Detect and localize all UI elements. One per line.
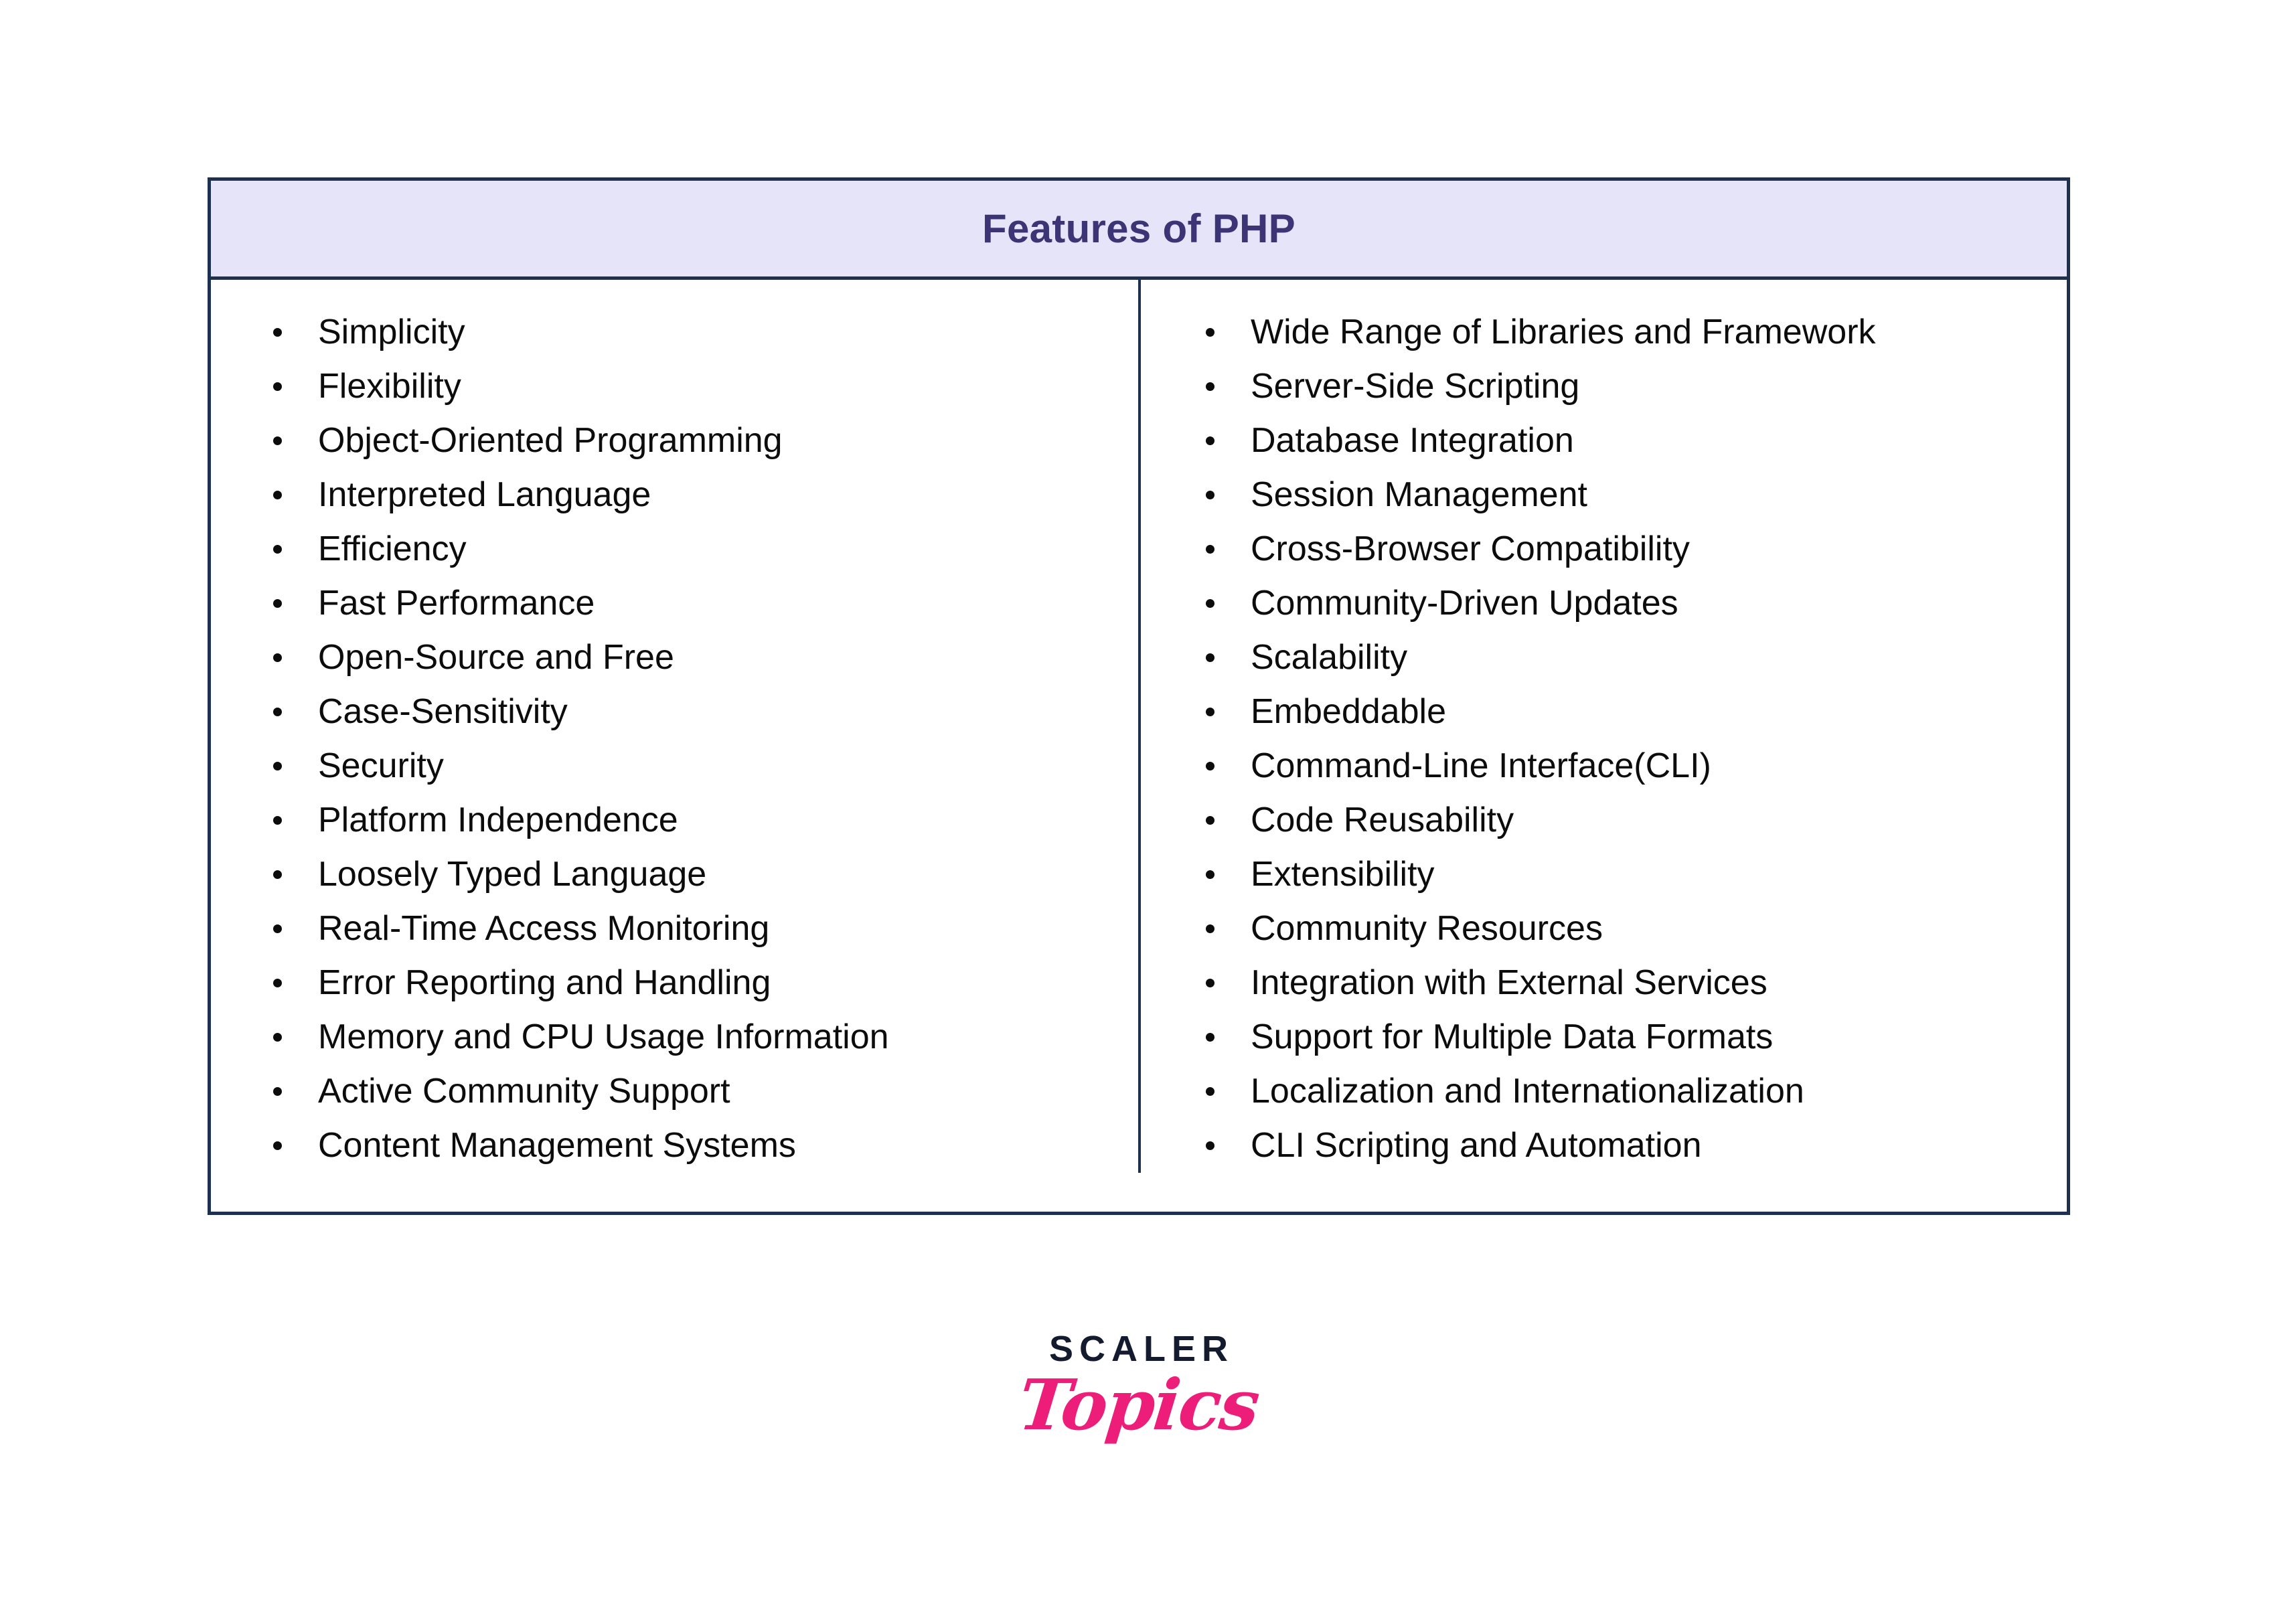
bullet-icon — [1206, 762, 1214, 770]
list-item-label: Database Integration — [1251, 421, 1574, 460]
list-item: Error Reporting and Handling — [271, 956, 1138, 1010]
right-feature-list: Wide Range of Libraries and Framework Se… — [1204, 305, 2063, 1173]
list-item-label: Memory and CPU Usage Information — [318, 1018, 889, 1056]
list-item: Active Community Support — [271, 1064, 1138, 1119]
scaler-topics-logo: SCALER Topics — [0, 1331, 2277, 1441]
list-item-label: Open-Source and Free — [318, 638, 674, 677]
list-item: Session Management — [1204, 468, 2063, 522]
bullet-icon — [1206, 653, 1214, 662]
list-item-label: Session Management — [1251, 475, 1587, 514]
list-item: Flexibility — [271, 359, 1138, 414]
bullet-icon — [273, 708, 282, 716]
list-item-label: Error Reporting and Handling — [318, 963, 771, 1002]
table-body: Simplicity Flexibility Object-Oriented P… — [211, 280, 2067, 1208]
bullet-icon — [1206, 870, 1214, 879]
list-item: Command-Line Interface(CLI) — [1204, 739, 2063, 793]
list-item-label: Efficiency — [318, 530, 467, 568]
list-item-label: Case-Sensitivity — [318, 692, 568, 731]
table-header: Features of PHP — [211, 181, 2067, 280]
right-column: Wide Range of Libraries and Framework Se… — [1138, 280, 2063, 1173]
list-item: Security — [271, 739, 1138, 793]
list-item: Object-Oriented Programming — [271, 414, 1138, 468]
bullet-icon — [1206, 979, 1214, 987]
list-item: Fast Performance — [271, 576, 1138, 631]
bullet-icon — [1206, 491, 1214, 499]
bullet-icon — [1206, 436, 1214, 445]
list-item: Loosely Typed Language — [271, 847, 1138, 902]
bullet-icon — [273, 1033, 282, 1042]
list-item: Community-Driven Updates — [1204, 576, 2063, 631]
list-item-label: Code Reusability — [1251, 801, 1514, 839]
list-item-label: Flexibility — [318, 367, 461, 406]
list-item: Community Resources — [1204, 902, 2063, 956]
list-item: Cross-Browser Compatibility — [1204, 522, 2063, 576]
list-item-label: Cross-Browser Compatibility — [1251, 530, 1690, 568]
bullet-icon — [1206, 816, 1214, 825]
bullet-icon — [273, 491, 282, 499]
bullet-icon — [273, 328, 282, 337]
list-item: Efficiency — [271, 522, 1138, 576]
bullet-icon — [1206, 328, 1214, 337]
bullet-icon — [1206, 545, 1214, 554]
features-table: Features of PHP Simplicity Flexibility O… — [208, 177, 2070, 1215]
bullet-icon — [1206, 1087, 1214, 1096]
bullet-icon — [273, 545, 282, 554]
list-item-label: Simplicity — [318, 313, 465, 351]
list-item: Extensibility — [1204, 847, 2063, 902]
list-item: Content Management Systems — [271, 1119, 1138, 1173]
bullet-icon — [273, 1087, 282, 1096]
list-item: Real-Time Access Monitoring — [271, 902, 1138, 956]
bullet-icon — [1206, 382, 1214, 391]
bullet-icon — [1206, 924, 1214, 933]
list-item-label: Command-Line Interface(CLI) — [1251, 746, 1711, 785]
left-feature-list: Simplicity Flexibility Object-Oriented P… — [271, 305, 1138, 1173]
list-item-label: Integration with External Services — [1251, 963, 1768, 1002]
bullet-icon — [273, 1141, 282, 1150]
list-item-label: Security — [318, 746, 444, 785]
list-item-label: Object-Oriented Programming — [318, 421, 783, 460]
list-item-label: Interpreted Language — [318, 475, 651, 514]
list-item-label: Localization and Internationalization — [1251, 1072, 1804, 1111]
page-canvas: Features of PHP Simplicity Flexibility O… — [0, 0, 2277, 1624]
list-item-label: Support for Multiple Data Formats — [1251, 1018, 1773, 1056]
list-item: Server-Side Scripting — [1204, 359, 2063, 414]
list-item: Memory and CPU Usage Information — [271, 1010, 1138, 1064]
page-title: Features of PHP — [982, 209, 1295, 249]
left-column: Simplicity Flexibility Object-Oriented P… — [211, 280, 1138, 1173]
bullet-icon — [273, 870, 282, 879]
list-item: Embeddable — [1204, 685, 2063, 739]
list-item: Integration with External Services — [1204, 956, 2063, 1010]
list-item-label: Server-Side Scripting — [1251, 367, 1579, 406]
list-item-label: Community Resources — [1251, 909, 1603, 948]
list-item: Support for Multiple Data Formats — [1204, 1010, 2063, 1064]
list-item-label: Real-Time Access Monitoring — [318, 909, 769, 948]
bullet-icon — [273, 924, 282, 933]
bullet-icon — [273, 816, 282, 825]
bullet-icon — [273, 436, 282, 445]
list-item-label: Community-Driven Updates — [1251, 584, 1678, 623]
list-item: Case-Sensitivity — [271, 685, 1138, 739]
list-item-label: Fast Performance — [318, 584, 595, 623]
list-item-label: Embeddable — [1251, 692, 1446, 731]
bullet-icon — [1206, 708, 1214, 716]
list-item-label: Loosely Typed Language — [318, 855, 706, 894]
list-item-label: Scalability — [1251, 638, 1407, 677]
bullet-icon — [1206, 1141, 1214, 1150]
list-item-label: Active Community Support — [318, 1072, 730, 1111]
list-item-label: Platform Independence — [318, 801, 678, 839]
list-item: CLI Scripting and Automation — [1204, 1119, 2063, 1173]
list-item-label: Extensibility — [1251, 855, 1435, 894]
list-item: Platform Independence — [271, 793, 1138, 847]
logo-wordmark-topics: Topics — [0, 1368, 2277, 1441]
logo-wordmark-scaler: SCALER — [0, 1331, 2277, 1367]
bullet-icon — [273, 979, 282, 987]
bullet-icon — [273, 382, 282, 391]
bullet-icon — [273, 599, 282, 608]
bullet-icon — [273, 653, 282, 662]
list-item: Wide Range of Libraries and Framework — [1204, 305, 2063, 359]
list-item: Localization and Internationalization — [1204, 1064, 2063, 1119]
list-item: Scalability — [1204, 631, 2063, 685]
list-item: Database Integration — [1204, 414, 2063, 468]
bullet-icon — [1206, 1033, 1214, 1042]
list-item-label: Wide Range of Libraries and Framework — [1251, 313, 1876, 351]
bullet-icon — [273, 762, 282, 770]
list-item: Interpreted Language — [271, 468, 1138, 522]
list-item: Simplicity — [271, 305, 1138, 359]
list-item-label: CLI Scripting and Automation — [1251, 1126, 1702, 1165]
list-item: Open-Source and Free — [271, 631, 1138, 685]
list-item: Code Reusability — [1204, 793, 2063, 847]
bullet-icon — [1206, 599, 1214, 608]
list-item-label: Content Management Systems — [318, 1126, 796, 1165]
